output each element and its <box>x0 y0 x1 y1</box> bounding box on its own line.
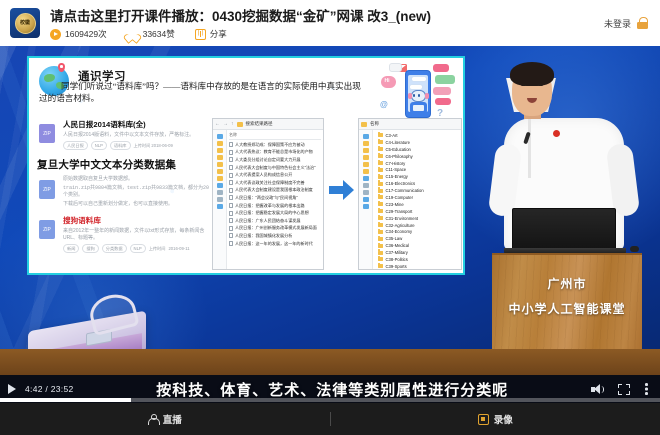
zip-file-icon: ZIP <box>39 220 55 239</box>
document-icon <box>229 150 233 155</box>
tag-upload-time-label: 上传时间 <box>149 246 166 252</box>
file-row: 人大代表议政关注社会保障制度不完善 <box>229 179 321 187</box>
corpus-card-title: 搜狗语料库 <box>63 216 213 226</box>
tag: 新闻 <box>63 244 79 253</box>
share-icon <box>195 29 206 40</box>
document-icon <box>229 211 233 216</box>
header-stats: 1609429次 33634赞 分享 <box>50 29 604 40</box>
file-name: 人民代表大会制度与中国特色社会主义“法治” <box>235 165 316 171</box>
corpus-card[interactable]: ZIP 原始数据取自复旦大学数据部。 train.zip共9804篇文档，tes… <box>37 176 213 208</box>
corpus-card-desc-3: 下载后可以自己重新划分做定，也可以直接使用。 <box>63 201 213 208</box>
at-symbol-icon: @ <box>380 100 388 109</box>
file-name: 人民日报：这一年的发展，这一年的新时代 <box>235 241 313 247</box>
tag: NLP <box>91 141 107 150</box>
file-name: 人民日报：把握改革与发展的根本出路 <box>235 203 305 209</box>
document-icon <box>229 173 233 178</box>
file-name: 人民日报：广东人民团结奋斗谋发展 <box>235 218 301 224</box>
presenter-hair <box>510 62 554 86</box>
video-stage[interactable]: 通识学习 同学们听说过“语料库”吗？——语料库中存放的是在语言的实际使用中真实出… <box>0 46 660 375</box>
drive-icon <box>217 197 223 202</box>
folder-row: C38-Politics <box>375 256 459 263</box>
folder-icon <box>378 244 383 248</box>
tag: 分类数据 <box>102 244 127 253</box>
back-arrow-icon: ← <box>215 121 220 127</box>
player-left-controls: 4:42 / 23:52 <box>0 384 74 394</box>
greeting-bubble <box>381 76 396 88</box>
document-icon <box>229 165 233 170</box>
school-seal-icon: 校徽 <box>15 13 36 34</box>
folder-row: C11-Space <box>375 166 459 173</box>
forward-arrow-icon: → <box>223 121 228 127</box>
like-count-stat[interactable]: 33634赞 <box>127 29 175 40</box>
view-count-stat: 1609429次 <box>50 29 107 40</box>
folder-name: C29-Transport <box>386 209 413 214</box>
folder-name: C17-Communication <box>386 188 424 193</box>
folder-row: C23-Mine <box>375 201 459 208</box>
slide-body-text: 同学们听说过“语料库”吗？——语料库中存放的是在语言的实际使用中真实出现过的语言… <box>39 80 361 104</box>
file-row: 人民日报：“两会议政”与“民间视角” <box>229 194 321 202</box>
player-right-controls <box>591 383 660 395</box>
courseware-slide: 通识学习 同学们听说过“语料库”吗？——语料库中存放的是在语言的实际使用中真实出… <box>27 56 465 275</box>
folder-name: C34-Economy <box>386 229 413 234</box>
explorer-address-bar: ← → ↑ 搜索结果路径 <box>213 119 323 130</box>
tag: NLP <box>130 244 146 253</box>
file-row: 人民日报：广东人民团结奋斗谋发展 <box>229 217 321 225</box>
folder-icon <box>363 169 369 174</box>
folder-icon <box>378 209 383 213</box>
file-name: 人民日报：“两会议政”与“民间视角” <box>235 195 298 201</box>
presenter-figure: 广州市 中小学人工智能课堂 <box>470 60 660 375</box>
question-mark-icon: ? <box>437 108 443 119</box>
folder-name: C35-Law <box>386 236 403 241</box>
folder-icon <box>217 155 223 160</box>
folder-name: C6-Philosophy <box>386 154 413 159</box>
party-emblem-badge <box>553 130 560 137</box>
document-icon <box>229 233 233 238</box>
explorer-body: 名称 人大教授郑功成：保障国策不应为被动 人大代表热议：教育不能总是市场化的产物… <box>213 130 323 270</box>
document-icon <box>229 142 233 147</box>
tag: 搜狗 <box>82 244 98 253</box>
podium-text-block: 广州市 中小学人工智能课堂 <box>492 275 642 317</box>
folder-name: C36-Medical <box>386 243 410 248</box>
document-icon <box>229 241 233 246</box>
podium-line-1: 广州市 <box>492 275 642 292</box>
volume-icon[interactable] <box>591 384 604 395</box>
folder-row: C6-Philosophy <box>375 153 459 160</box>
heart-icon <box>127 29 139 40</box>
folder-name: C15-Energy <box>386 174 408 179</box>
document-icon <box>229 195 233 200</box>
folder-row: C32-Agriculture <box>375 222 459 229</box>
file-name: 人民代表大会制度建设是我国根本政治制度 <box>235 187 313 193</box>
this-pc-icon <box>363 176 369 181</box>
folder-row: C29-Transport <box>375 208 459 215</box>
folder-row: C36-Medical <box>375 242 459 249</box>
folder-icon <box>363 155 369 160</box>
file-row: 人大代表提案人员构成信息公开 <box>229 171 321 179</box>
folder-name: C23-Mine <box>386 202 404 207</box>
folder-icon <box>378 154 383 158</box>
corpus-card-list: ZIP 人民日报2014语料库(全) 人民日报2014版语料，文件中以文本文件存… <box>37 120 213 258</box>
quick-access-icon <box>217 134 223 139</box>
tag: 人民日报 <box>63 141 88 150</box>
zip-file-icon: ZIP <box>39 124 55 143</box>
folder-icon <box>217 148 223 153</box>
file-name: 人民日报：广州创新服务改革模式发展新局面 <box>235 225 317 231</box>
slide-canvas: 通识学习 同学们听说过“语料库”吗？——语料库中存放的是在语言的实际使用中真实出… <box>29 58 463 273</box>
file-row: 人民日报：我国城镇化发展分析 <box>229 232 321 240</box>
tab-live[interactable]: 直播 <box>0 403 330 435</box>
lock-icon <box>637 17 648 29</box>
corpus-card-desc: 来自2012年一整年的新闻数据，文件以txt形式存放，每条新闻含URL、标题等。 <box>63 228 213 242</box>
file-name: 人大委员分组讨论自定词要大力开展 <box>235 157 301 163</box>
folder-row: C5-Education <box>375 146 459 153</box>
folder-icon <box>237 122 243 127</box>
progress-bar-fill <box>0 398 131 402</box>
folder-name: C39-Sports <box>386 264 407 269</box>
folder-row: C16-Electronics <box>375 180 459 187</box>
folder-icon <box>378 175 383 179</box>
video-subtitle: 按科技、体育、艺术、法律等类别属性进行分类呢 <box>74 379 592 400</box>
file-row: 人大教授郑功成：保障国策不应为被动 <box>229 141 321 149</box>
file-name: 人大教授郑功成：保障国策不应为被动 <box>235 142 305 148</box>
tab-live-label: 直播 <box>163 412 182 426</box>
folder-icon <box>378 140 383 144</box>
corpus-card-tags: 新闻 搜狗 分类数据 NLP 上传时间 2016-09-11 <box>63 244 213 253</box>
folder-name: C32-Agriculture <box>386 223 415 228</box>
folder-icon <box>378 147 383 151</box>
folder-row: C17-Communication <box>375 187 459 194</box>
network-icon <box>217 204 223 209</box>
corpus-card-title: 人民日报2014语料库(全) <box>63 120 213 130</box>
login-status-label: 未登录 <box>604 17 631 30</box>
folder-icon <box>363 141 369 146</box>
tab-recording[interactable]: 录像 <box>331 403 660 435</box>
folder-row: C34-Economy <box>375 228 459 235</box>
folder-icon <box>378 237 383 241</box>
drive-icon <box>217 190 223 195</box>
arrow-right-icon <box>329 180 355 200</box>
document-icon <box>229 203 233 208</box>
explorer-column-header: 名称 <box>229 132 321 140</box>
map-pin-icon <box>58 63 65 72</box>
document-icon <box>229 157 233 162</box>
file-name: 人大代表热议：教育不能总是市场化的产物 <box>235 149 313 155</box>
folder-icon <box>378 264 383 268</box>
network-icon <box>363 197 369 202</box>
folder-row: C4-Literature <box>375 139 459 146</box>
file-row: 人大代表热议：教育不能总是市场化的产物 <box>229 149 321 157</box>
folder-name: C19-Computer <box>386 195 413 200</box>
explorer-sidebar <box>359 130 373 270</box>
folder-name: C11-Space <box>386 167 407 172</box>
live-icon <box>148 414 158 425</box>
zip-file-icon: ZIP <box>39 180 55 199</box>
file-name: 人民日报：我国城镇化发展分析 <box>235 233 292 239</box>
folder-icon <box>361 122 367 127</box>
folder-icon <box>378 161 383 165</box>
explorer-sidebar <box>213 130 227 270</box>
drive-icon <box>363 190 369 195</box>
podium-line-2: 中小学人工智能课堂 <box>492 300 642 317</box>
explorer-column-header: 名称 <box>370 121 379 127</box>
document-icon <box>229 188 233 193</box>
folder-icon <box>378 168 383 172</box>
folder-icon <box>378 216 383 220</box>
share-button[interactable]: 分享 <box>195 29 227 40</box>
chatbot-illustration: @ ? <box>379 62 457 124</box>
folder-name: C5-Education <box>386 147 411 152</box>
folder-icon <box>378 257 383 261</box>
folder-row: C7-History <box>375 160 459 167</box>
file-explorer-screenshot-b: 名称 <box>358 118 462 270</box>
video-lesson-player-page: 校徽 请点击这里打开课件播放：0430挖掘数据“金矿”网课 改3_(new) 1… <box>0 0 660 435</box>
chat-bubble <box>389 63 402 72</box>
tag-upload-time: 上传时间 2018-06-09 <box>134 143 173 149</box>
slide-big-heading: 复旦大学中文文本分类数据集 <box>37 157 213 172</box>
explorer-folder-list: C3-Art C4-Literature C5-Education C6-Phi… <box>373 130 461 270</box>
folder-name: C16-Electronics <box>386 181 416 186</box>
chat-bubble <box>433 64 449 72</box>
explorer-body: C3-Art C4-Literature C5-Education C6-Phi… <box>359 130 461 270</box>
chat-bubble <box>435 98 451 105</box>
folder-icon <box>378 133 383 137</box>
header-text-block: 请点击这里打开课件播放：0430挖掘数据“金矿”网课 改3_(new) 1609… <box>50 6 604 40</box>
record-icon <box>478 414 489 425</box>
folder-icon <box>378 195 383 199</box>
folder-icon <box>378 223 383 227</box>
folder-icon <box>363 162 369 167</box>
document-icon <box>229 226 233 231</box>
file-row: 人民日报：广州创新服务改革模式发展新局面 <box>229 225 321 233</box>
folder-row: C19-Computer <box>375 194 459 201</box>
corpus-card-desc-2: train.zip共9804篇文档，test.zip共9833篇文档，都分为20… <box>63 185 213 199</box>
file-name: 人大代表提案人员构成信息公开 <box>235 172 292 178</box>
bottom-tab-bar: 直播 录像 <box>0 403 660 435</box>
corpus-card-desc: 人民日报2014版语料，文件中以文本文件存放，严格标注。 <box>63 132 213 139</box>
up-arrow-icon: ↑ <box>231 121 234 127</box>
desk-front-edge <box>0 349 660 375</box>
explorer-breadcrumb: 搜索结果路径 <box>246 121 273 127</box>
folder-name: C3-Art <box>386 133 398 138</box>
folder-icon <box>217 141 223 146</box>
share-label: 分享 <box>210 29 227 40</box>
folder-icon <box>378 182 383 186</box>
view-count-label: 1609429次 <box>65 29 107 40</box>
chat-bubble <box>433 87 451 95</box>
document-icon <box>229 180 233 185</box>
more-options-icon[interactable] <box>644 383 648 395</box>
file-row: 人民代表大会制度建设是我国根本政治制度 <box>229 187 321 195</box>
folder-icon <box>378 202 383 206</box>
laptop-device <box>512 208 616 250</box>
folder-row: C31-Environment <box>375 215 459 222</box>
file-name: 人民日报：把握稳定发展大局的中心思想 <box>235 210 309 216</box>
play-button[interactable] <box>8 384 16 394</box>
folder-icon <box>363 148 369 153</box>
folder-name: C37-Military <box>386 250 408 255</box>
file-row: 人大委员分组讨论自定词要大力开展 <box>229 156 321 164</box>
folder-row: C15-Energy <box>375 173 459 180</box>
folder-name: C7-History <box>386 161 406 166</box>
folder-row: C35-Law <box>375 235 459 242</box>
tab-recording-label: 录像 <box>494 412 513 426</box>
chat-bubble <box>411 76 427 82</box>
page-header: 校徽 请点击这里打开课件播放：0430挖掘数据“金矿”网课 改3_(new) 1… <box>0 0 660 46</box>
quick-access-icon <box>363 134 369 139</box>
file-row: 人民代表大会制度与中国特色社会主义“法治” <box>229 164 321 172</box>
folder-row: C37-Military <box>375 249 459 256</box>
chat-bubble <box>435 75 455 84</box>
fullscreen-icon[interactable] <box>618 384 630 395</box>
corpus-card-desc: 原始数据取自复旦大学数据部。 <box>63 176 213 183</box>
folder-icon <box>217 176 223 181</box>
tag: 语料库 <box>110 141 131 150</box>
folder-row: C39-Sports <box>375 263 459 270</box>
file-explorer-screenshot-a: ← → ↑ 搜索结果路径 <box>212 118 324 270</box>
this-pc-icon <box>217 183 223 188</box>
file-name: 人大代表议政关注社会保障制度不完善 <box>235 180 305 186</box>
school-logo: 校徽 <box>10 8 40 38</box>
file-row: 人民日报：这一年的发展，这一年的新时代 <box>229 240 321 248</box>
drive-icon <box>363 183 369 188</box>
corpus-card[interactable]: ZIP 搜狗语料库 来自2012年一整年的新闻数据，文件以txt形式存放，每条新… <box>37 216 213 253</box>
file-row: 人民日报：把握改革与发展的根本出路 <box>229 202 321 210</box>
folder-name: C31-Environment <box>386 216 419 221</box>
time-display: 4:42 / 23:52 <box>25 384 74 394</box>
folder-row: C3-Art <box>375 132 459 139</box>
like-count-label: 33634赞 <box>143 29 175 40</box>
mouse-device <box>630 246 639 252</box>
page-title: 请点击这里打开课件播放：0430挖掘数据“金矿”网课 改3_(new) <box>50 8 604 26</box>
progress-bar[interactable] <box>0 398 660 402</box>
folder-name: C38-Politics <box>386 257 408 262</box>
corpus-card-tags: 人民日报 NLP 语料库 上传时间 2018-06-09 <box>63 141 213 150</box>
explorer-file-list: 名称 人大教授郑功成：保障国策不应为被动 人大代表热议：教育不能总是市场化的产物… <box>227 130 323 270</box>
network-icon <box>363 204 369 209</box>
folder-icon <box>217 162 223 167</box>
file-row: 人民日报：把握稳定发展大局的中心思想 <box>229 209 321 217</box>
document-icon <box>229 218 233 223</box>
folder-icon <box>217 169 223 174</box>
corpus-card[interactable]: ZIP 人民日报2014语料库(全) 人民日报2014版语料，文件中以文本文件存… <box>37 120 213 150</box>
folder-icon <box>378 230 383 234</box>
folder-icon <box>378 251 383 255</box>
tag-upload-date: 2016-09-11 <box>168 246 189 252</box>
folder-name: C4-Literature <box>386 140 410 145</box>
play-icon <box>50 29 61 40</box>
folder-icon <box>378 189 383 193</box>
login-area[interactable]: 未登录 <box>604 17 648 30</box>
robot-icon <box>408 90 429 114</box>
